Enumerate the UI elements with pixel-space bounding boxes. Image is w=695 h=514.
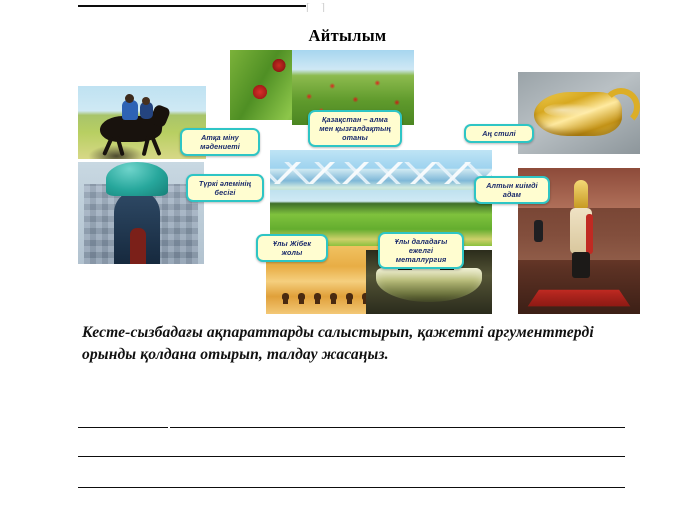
camel-icon (330, 293, 337, 300)
camel-icon (282, 293, 289, 300)
callout-cradle-of-turkic-world: Түркі әлемінің бесігі (186, 174, 264, 202)
mausoleum-door (130, 228, 146, 264)
answer-line[interactable] (170, 427, 625, 428)
golden-man-legs (572, 252, 590, 278)
horse-leg (150, 136, 161, 156)
callout-great-silk-road: Ұлы Жібек жолы (256, 234, 328, 262)
callout-animal-style: Аң стилі (464, 124, 534, 143)
callout-ancient-metallurgy: Ұлы даладағы ежелгі металлургия (378, 232, 464, 269)
cauldron-bowl (376, 268, 482, 302)
answer-line[interactable] (78, 487, 625, 488)
photo-mausoleum (78, 162, 204, 264)
answer-line[interactable] (78, 456, 625, 457)
callout-horse-riding-culture: Атқа міну мәдениеті (180, 128, 260, 156)
golden-man-sash (586, 214, 593, 254)
golden-beast-tail (602, 88, 640, 126)
callout-apple-tulip-homeland: Қазақстан – алма мен қызғалдақтың отаны (308, 110, 402, 147)
rider-head (125, 94, 134, 103)
task-instruction: Кесте-сызбадағы ақпараттарды салыстырып,… (82, 322, 638, 366)
top-divider-rule (78, 5, 306, 7)
rider-head (142, 97, 150, 105)
top-rule-fragment-text: [ ] (306, 0, 366, 12)
camel-icon (346, 293, 353, 300)
rider-body (122, 100, 138, 120)
museum-visitor (534, 220, 543, 242)
callout-golden-man: Алтын киімді адам (474, 176, 550, 204)
camel-icon (298, 293, 305, 300)
answer-line[interactable] (78, 427, 168, 428)
horse-leg (102, 136, 114, 156)
image-collage: Атқа міну мәдениеті Қазақстан – алма мен… (78, 50, 640, 314)
red-carpet (528, 290, 631, 307)
mountain-peaks (270, 162, 492, 184)
page-title: Айтылым (0, 26, 695, 46)
camel-icon (314, 293, 321, 300)
golden-man-headdress (574, 180, 588, 208)
photo-golden-animal-style-artifact (518, 72, 640, 154)
mausoleum-dome (106, 162, 168, 196)
